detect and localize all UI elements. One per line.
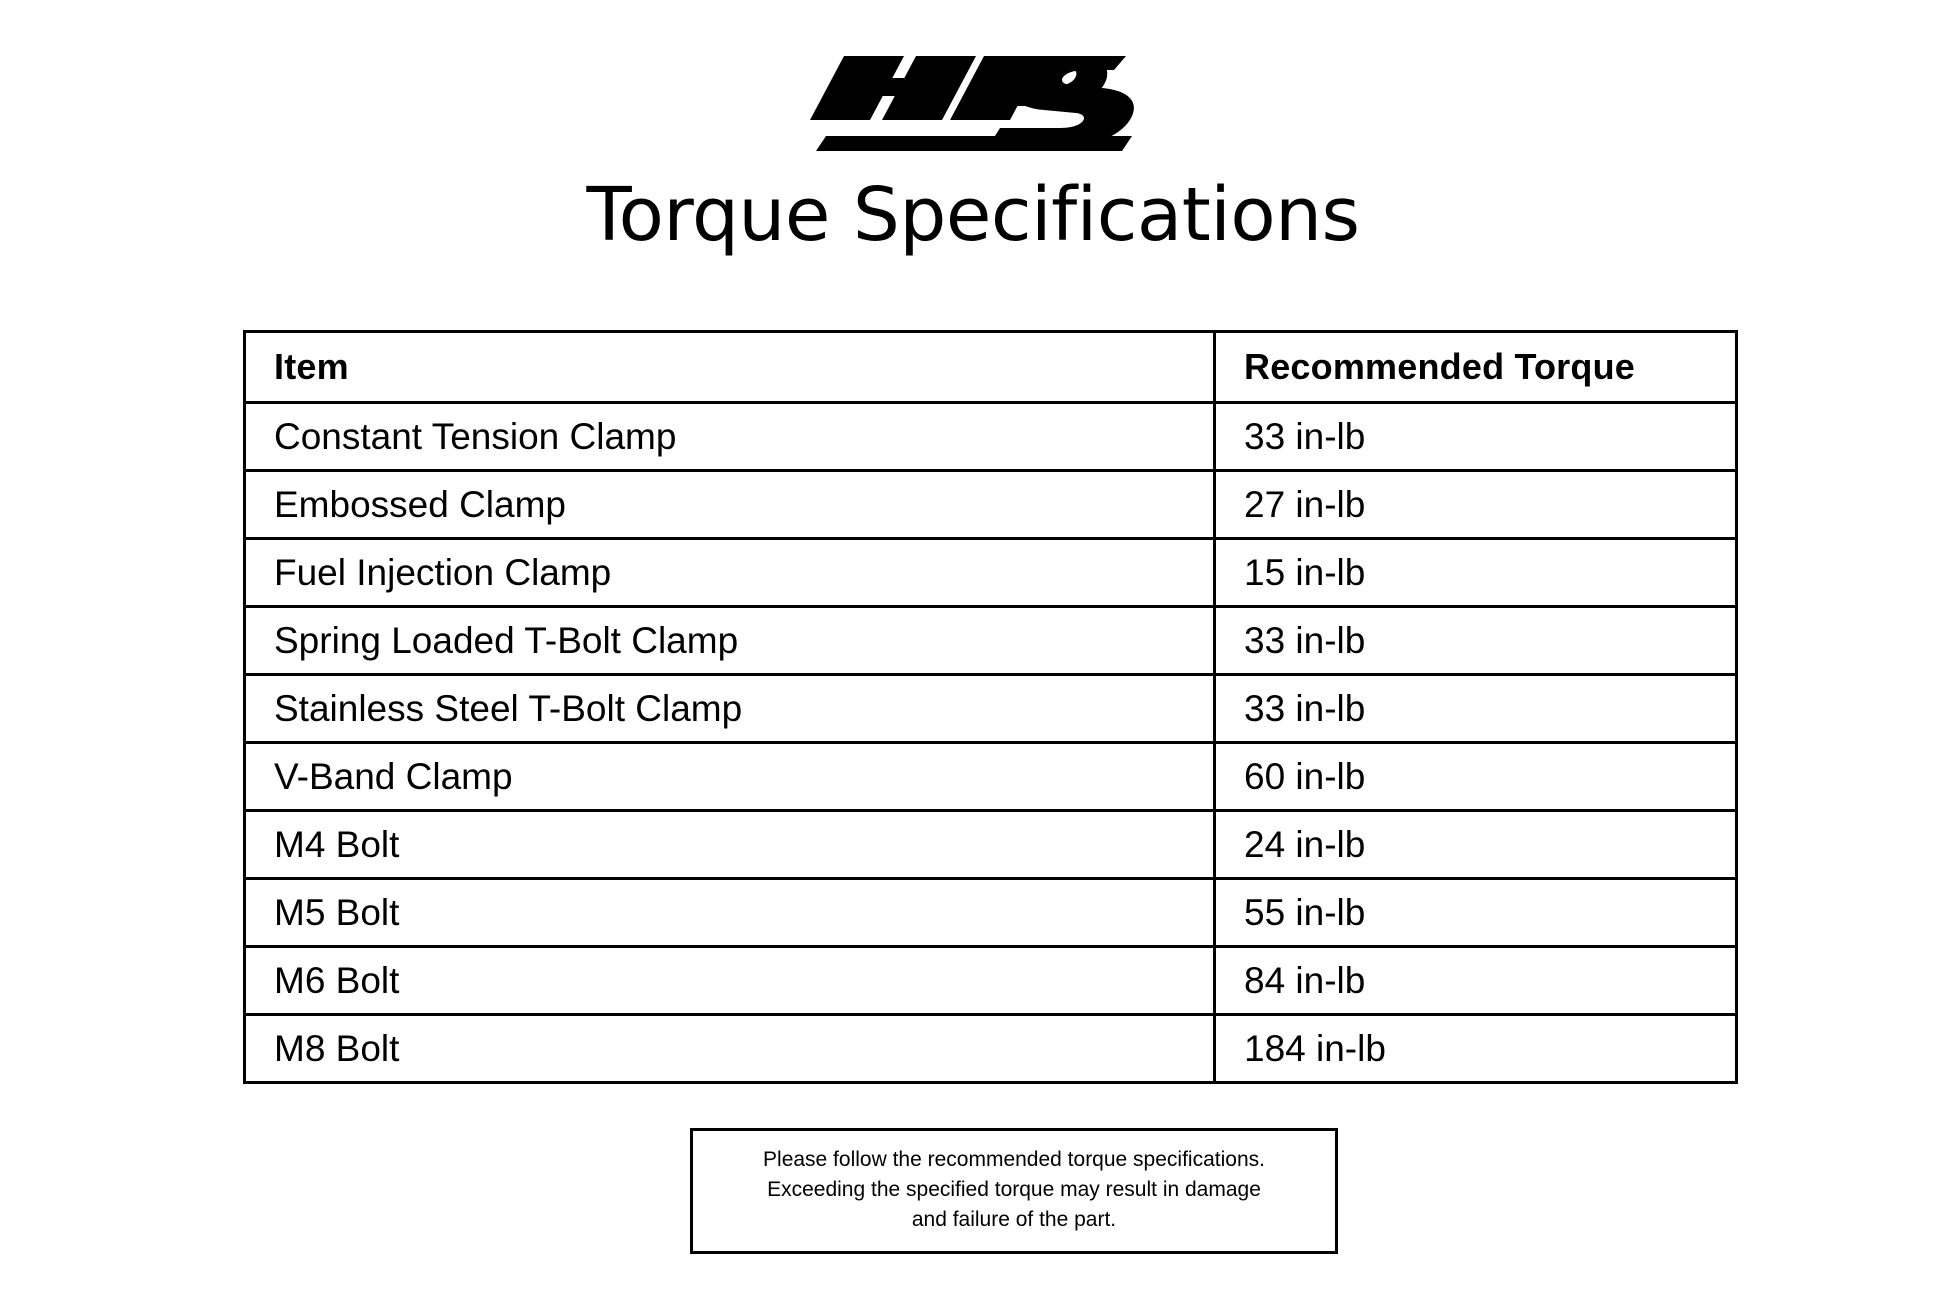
table-row: Spring Loaded T-Bolt Clamp 33 in-lb bbox=[245, 607, 1737, 675]
table-row: Stainless Steel T-Bolt Clamp 33 in-lb bbox=[245, 675, 1737, 743]
warning-note-line: Exceeding the specified torque may resul… bbox=[711, 1175, 1317, 1205]
cell-item: M4 Bolt bbox=[245, 811, 1215, 879]
table-body: Constant Tension Clamp 33 in-lb Embossed… bbox=[245, 403, 1737, 1083]
cell-torque: 33 in-lb bbox=[1215, 607, 1737, 675]
brand-logo bbox=[0, 48, 1946, 153]
table-row: M8 Bolt 184 in-lb bbox=[245, 1015, 1737, 1083]
cell-item: M8 Bolt bbox=[245, 1015, 1215, 1083]
cell-item: Embossed Clamp bbox=[245, 471, 1215, 539]
cell-item: Constant Tension Clamp bbox=[245, 403, 1215, 471]
cell-torque: 184 in-lb bbox=[1215, 1015, 1737, 1083]
cell-item: Stainless Steel T-Bolt Clamp bbox=[245, 675, 1215, 743]
hps-logo-icon bbox=[808, 48, 1138, 153]
cell-item: M5 Bolt bbox=[245, 879, 1215, 947]
cell-item: V-Band Clamp bbox=[245, 743, 1215, 811]
cell-torque: 60 in-lb bbox=[1215, 743, 1737, 811]
table-header-row: Item Recommended Torque bbox=[245, 332, 1737, 403]
table-row: Embossed Clamp 27 in-lb bbox=[245, 471, 1737, 539]
cell-item: M6 Bolt bbox=[245, 947, 1215, 1015]
cell-item: Fuel Injection Clamp bbox=[245, 539, 1215, 607]
table-row: M6 Bolt 84 in-lb bbox=[245, 947, 1737, 1015]
cell-torque: 55 in-lb bbox=[1215, 879, 1737, 947]
page-title: Torque Specifications bbox=[0, 172, 1946, 258]
cell-torque: 15 in-lb bbox=[1215, 539, 1737, 607]
torque-specifications-table: Item Recommended Torque Constant Tension… bbox=[243, 330, 1738, 1084]
cell-torque: 27 in-lb bbox=[1215, 471, 1737, 539]
table-row: Constant Tension Clamp 33 in-lb bbox=[245, 403, 1737, 471]
torque-table-container: Item Recommended Torque Constant Tension… bbox=[243, 330, 1735, 1084]
cell-torque: 24 in-lb bbox=[1215, 811, 1737, 879]
cell-torque: 33 in-lb bbox=[1215, 403, 1737, 471]
warning-note-box: Please follow the recommended torque spe… bbox=[690, 1128, 1338, 1254]
column-header-item: Item bbox=[245, 332, 1215, 403]
column-header-recommended-torque: Recommended Torque bbox=[1215, 332, 1737, 403]
warning-note-line: and failure of the part. bbox=[711, 1205, 1317, 1235]
cell-item: Spring Loaded T-Bolt Clamp bbox=[245, 607, 1215, 675]
table-row: M5 Bolt 55 in-lb bbox=[245, 879, 1737, 947]
warning-note-line: Please follow the recommended torque spe… bbox=[711, 1145, 1317, 1175]
cell-torque: 84 in-lb bbox=[1215, 947, 1737, 1015]
table-row: V-Band Clamp 60 in-lb bbox=[245, 743, 1737, 811]
table-row: M4 Bolt 24 in-lb bbox=[245, 811, 1737, 879]
table-row: Fuel Injection Clamp 15 in-lb bbox=[245, 539, 1737, 607]
cell-torque: 33 in-lb bbox=[1215, 675, 1737, 743]
